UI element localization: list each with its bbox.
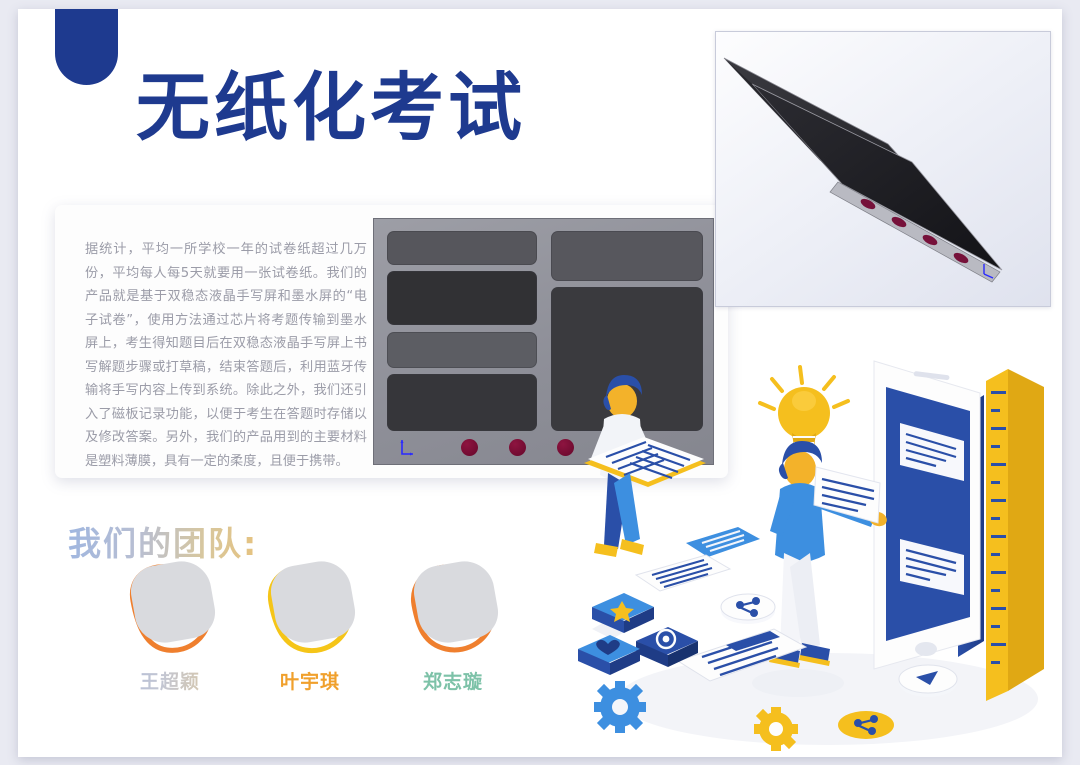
smartphone-icon (872, 361, 984, 671)
held-document-icon (814, 467, 880, 523)
team-member-3-badge (398, 557, 508, 660)
device-button-1 (461, 439, 478, 456)
device-panel-left-1 (387, 231, 537, 265)
isometric-illustration-svg (578, 339, 1062, 757)
team-member-1-badge (115, 557, 225, 660)
device-panel-left-2 (387, 271, 537, 325)
team-member-3: 郑志璇 (379, 557, 527, 712)
device-panel-left-3 (387, 332, 537, 368)
team-member-3-name: 郑志璇 (379, 667, 527, 694)
team-member-2-name: 叶宇琪 (236, 667, 384, 694)
share-icon (838, 711, 894, 739)
cad-axis-indicator-icon (399, 439, 415, 457)
heart-tile-icon (578, 635, 640, 675)
slide-sheet: 无纸化考试 据统计，平均一所学校一年的试卷纸超过几万份，平均每人每5天就要用一张… (18, 9, 1062, 757)
share-icon (721, 594, 775, 624)
team-members-row: 王超颖 (96, 557, 546, 712)
team-member-1: 王超颖 (96, 557, 244, 712)
team-member-2: 叶宇琪 (236, 557, 384, 712)
slide-content-area: 无纸化考试 据统计，平均一所学校一年的试卷纸超过几万份，平均每人每5天就要用一张… (18, 9, 1062, 757)
gear-icon (594, 681, 646, 733)
ruler-icon (986, 369, 1044, 701)
page-title: 无纸化考试 (136, 71, 526, 145)
person-with-documents-icon (584, 375, 706, 639)
lightbulb-icon (760, 367, 848, 451)
description-paragraph: 据统计，平均一所学校一年的试卷纸超过几万份，平均每人每5天就要用一张试卷纸。我们… (85, 238, 367, 473)
play-icon (899, 665, 957, 697)
device-panel-left-4 (387, 374, 537, 431)
device-button-2 (509, 439, 526, 456)
device-panel-right-top (551, 231, 703, 281)
team-member-2-badge (255, 557, 365, 660)
presentation-slide: 无纸化考试 据统计，平均一所学校一年的试卷纸超过几万份，平均每人每5天就要用一张… (0, 0, 1080, 765)
team-member-1-name: 王超颖 (96, 667, 244, 694)
device-perspective-render (716, 32, 1050, 306)
decorative-blue-pill-shape (55, 9, 118, 85)
isometric-illustration (578, 339, 1062, 757)
cad-perspective-screenshot (715, 31, 1051, 307)
device-button-3 (557, 439, 574, 456)
